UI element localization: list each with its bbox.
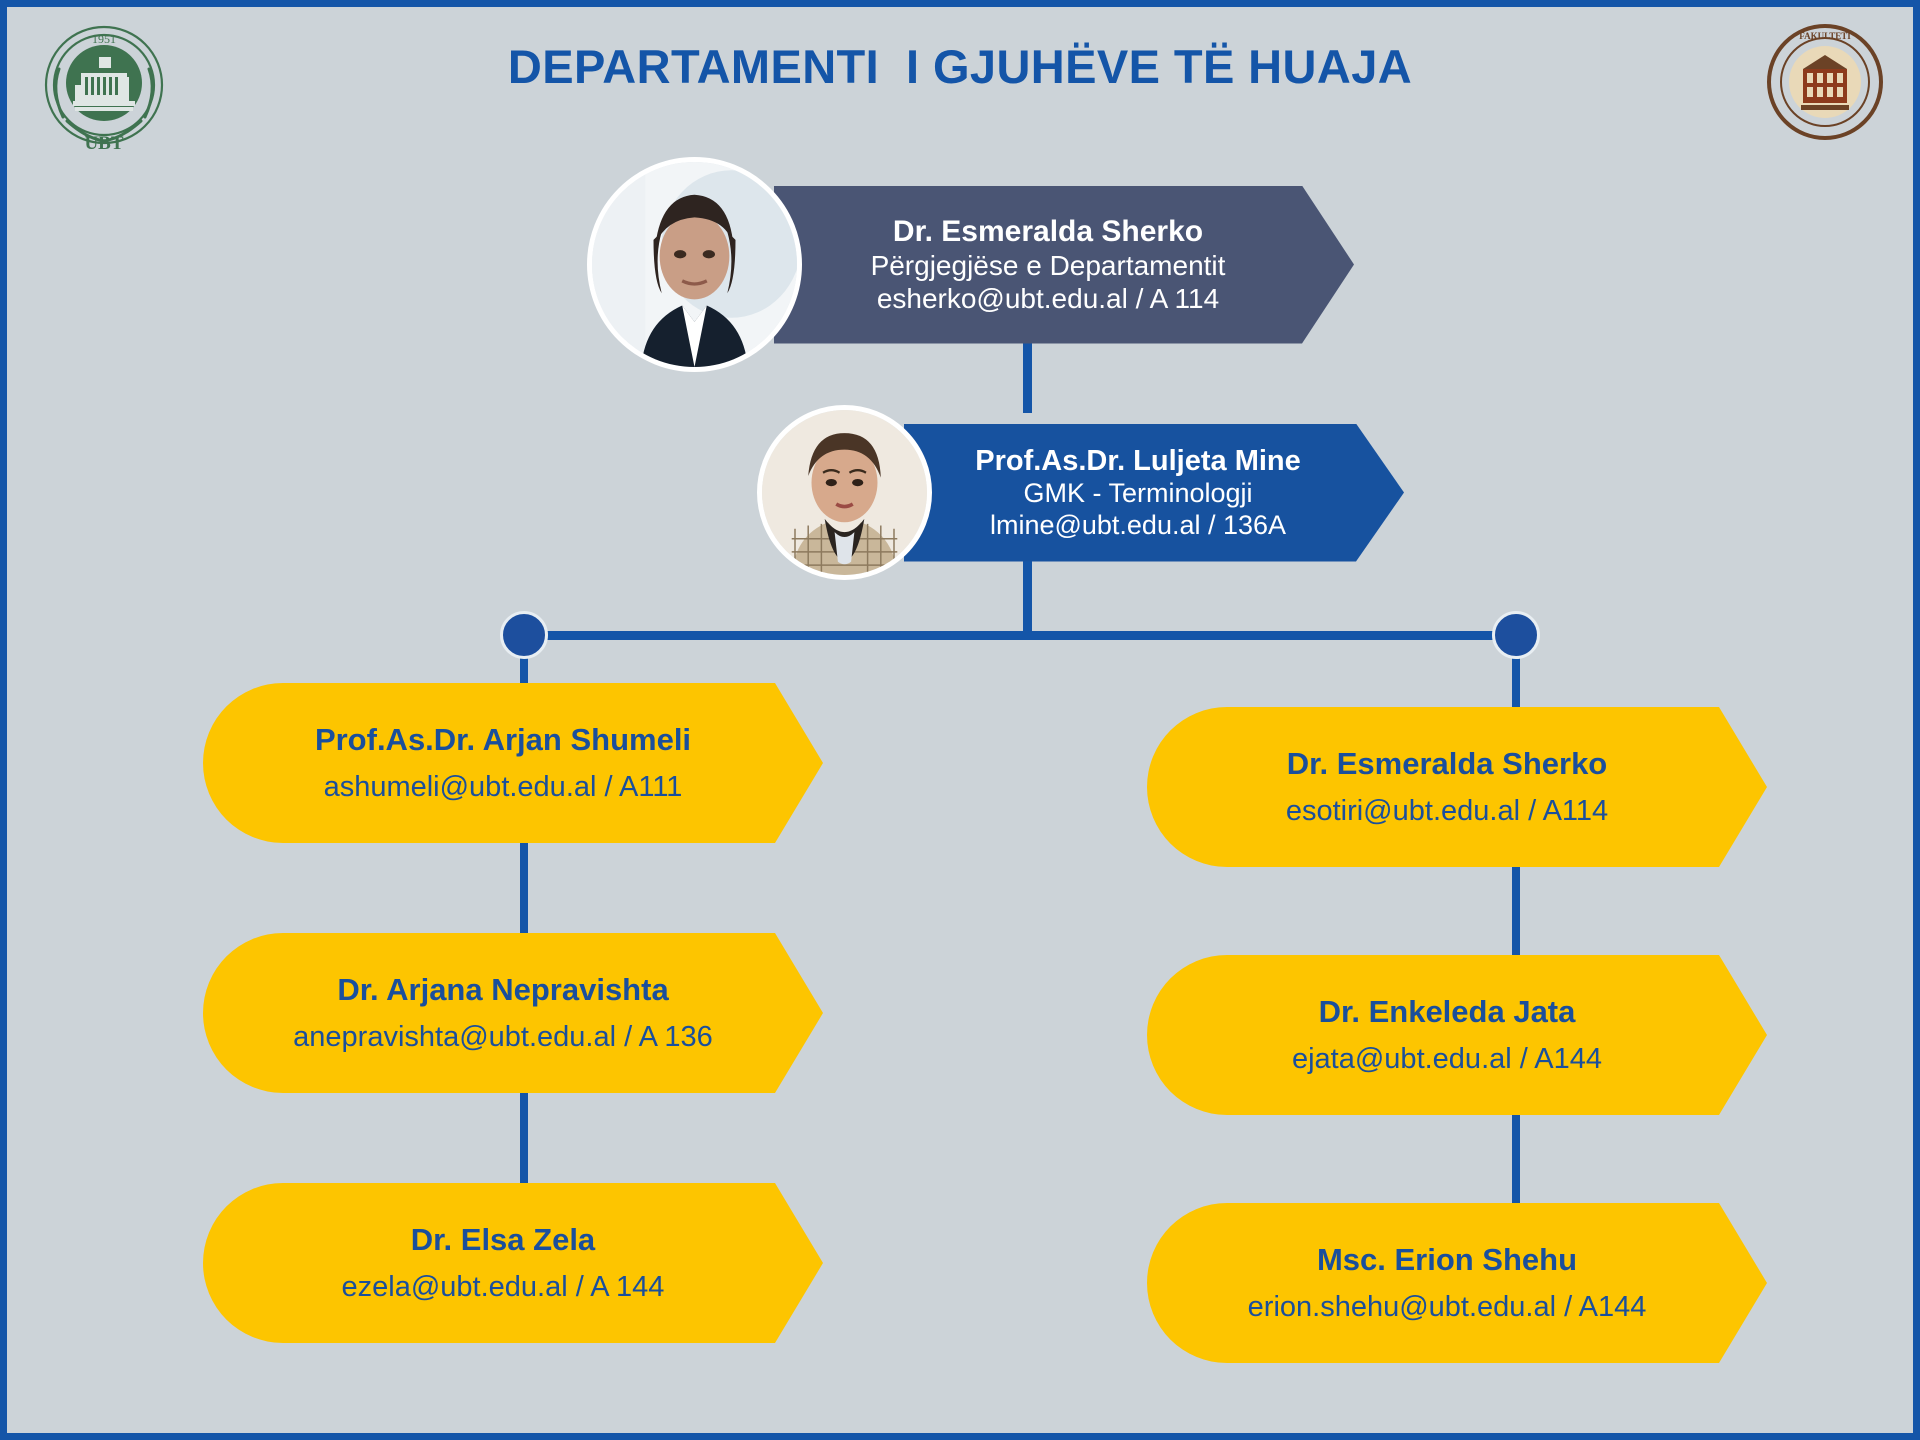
member-email: ezela@ubt.edu.al / A 144 bbox=[342, 1269, 665, 1305]
node-left-branch bbox=[500, 611, 548, 659]
leader-name: Dr. Esmeralda Sherko bbox=[893, 214, 1203, 249]
member-name: Dr. Arjana Nepravishta bbox=[337, 971, 668, 1010]
avatar-luljeta-mine bbox=[757, 405, 932, 580]
member-name: Dr. Enkeleda Jata bbox=[1319, 993, 1576, 1032]
member-email: ashumeli@ubt.edu.al / A111 bbox=[324, 769, 683, 805]
leader-banner-1: Dr. Esmeralda Sherko Përgjegjëse e Depar… bbox=[774, 186, 1354, 344]
logo-label-text: UBT bbox=[84, 133, 123, 153]
member-name: Prof.As.Dr. Arjan Shumeli bbox=[315, 721, 691, 760]
member-email: anepravishta@ubt.edu.al / A 136 bbox=[293, 1019, 713, 1055]
member-name: Msc. Erion Shehu bbox=[1317, 1241, 1577, 1280]
member-chip-enkeleda-jata[interactable]: Dr. Enkeleda Jata ejata@ubt.edu.al / A14… bbox=[1147, 955, 1767, 1115]
leader-email: lmine@ubt.edu.al / 136A bbox=[990, 510, 1286, 542]
member-name: Dr. Esmeralda Sherko bbox=[1287, 745, 1608, 784]
leader-banner-2: Prof.As.Dr. Luljeta Mine GMK - Terminolo… bbox=[904, 424, 1404, 562]
leader-email: esherko@ubt.edu.al / A 114 bbox=[877, 282, 1219, 315]
page-title: DEPARTAMENTI I GJUHËVE TË HUAJA bbox=[7, 39, 1913, 94]
member-name: Dr. Elsa Zela bbox=[411, 1221, 595, 1260]
member-chip-arjan-shumeli[interactable]: Prof.As.Dr. Arjan Shumeli ashumeli@ubt.e… bbox=[203, 683, 823, 843]
member-chip-arjana-nepravishta[interactable]: Dr. Arjana Nepravishta anepravishta@ubt.… bbox=[203, 933, 823, 1093]
avatar-esmeralda-sherko bbox=[587, 157, 802, 372]
org-chart-poster: 1951 UBT FAKULT bbox=[0, 0, 1920, 1440]
member-email: erion.shehu@ubt.edu.al / A144 bbox=[1248, 1289, 1647, 1325]
leader-name: Prof.As.Dr. Luljeta Mine bbox=[975, 444, 1301, 478]
member-email: esotiri@ubt.edu.al / A114 bbox=[1286, 793, 1608, 829]
leader-role: GMK - Terminologji bbox=[1023, 478, 1252, 510]
member-chip-erion-shehu[interactable]: Msc. Erion Shehu erion.shehu@ubt.edu.al … bbox=[1147, 1203, 1767, 1363]
node-right-branch bbox=[1492, 611, 1540, 659]
leader-role: Përgjegjëse e Departamentit bbox=[871, 249, 1226, 282]
member-chip-elsa-zela[interactable]: Dr. Elsa Zela ezela@ubt.edu.al / A 144 bbox=[203, 1183, 823, 1343]
leader-card-gmk-terminologji[interactable]: Prof.As.Dr. Luljeta Mine GMK - Terminolo… bbox=[757, 405, 1404, 580]
member-email: ejata@ubt.edu.al / A144 bbox=[1292, 1041, 1602, 1077]
connector-horizontal-bus bbox=[519, 631, 1527, 640]
leader-card-department-head[interactable]: Dr. Esmeralda Sherko Përgjegjëse e Depar… bbox=[587, 157, 1354, 372]
member-chip-esmeralda-sherko[interactable]: Dr. Esmeralda Sherko esotiri@ubt.edu.al … bbox=[1147, 707, 1767, 867]
